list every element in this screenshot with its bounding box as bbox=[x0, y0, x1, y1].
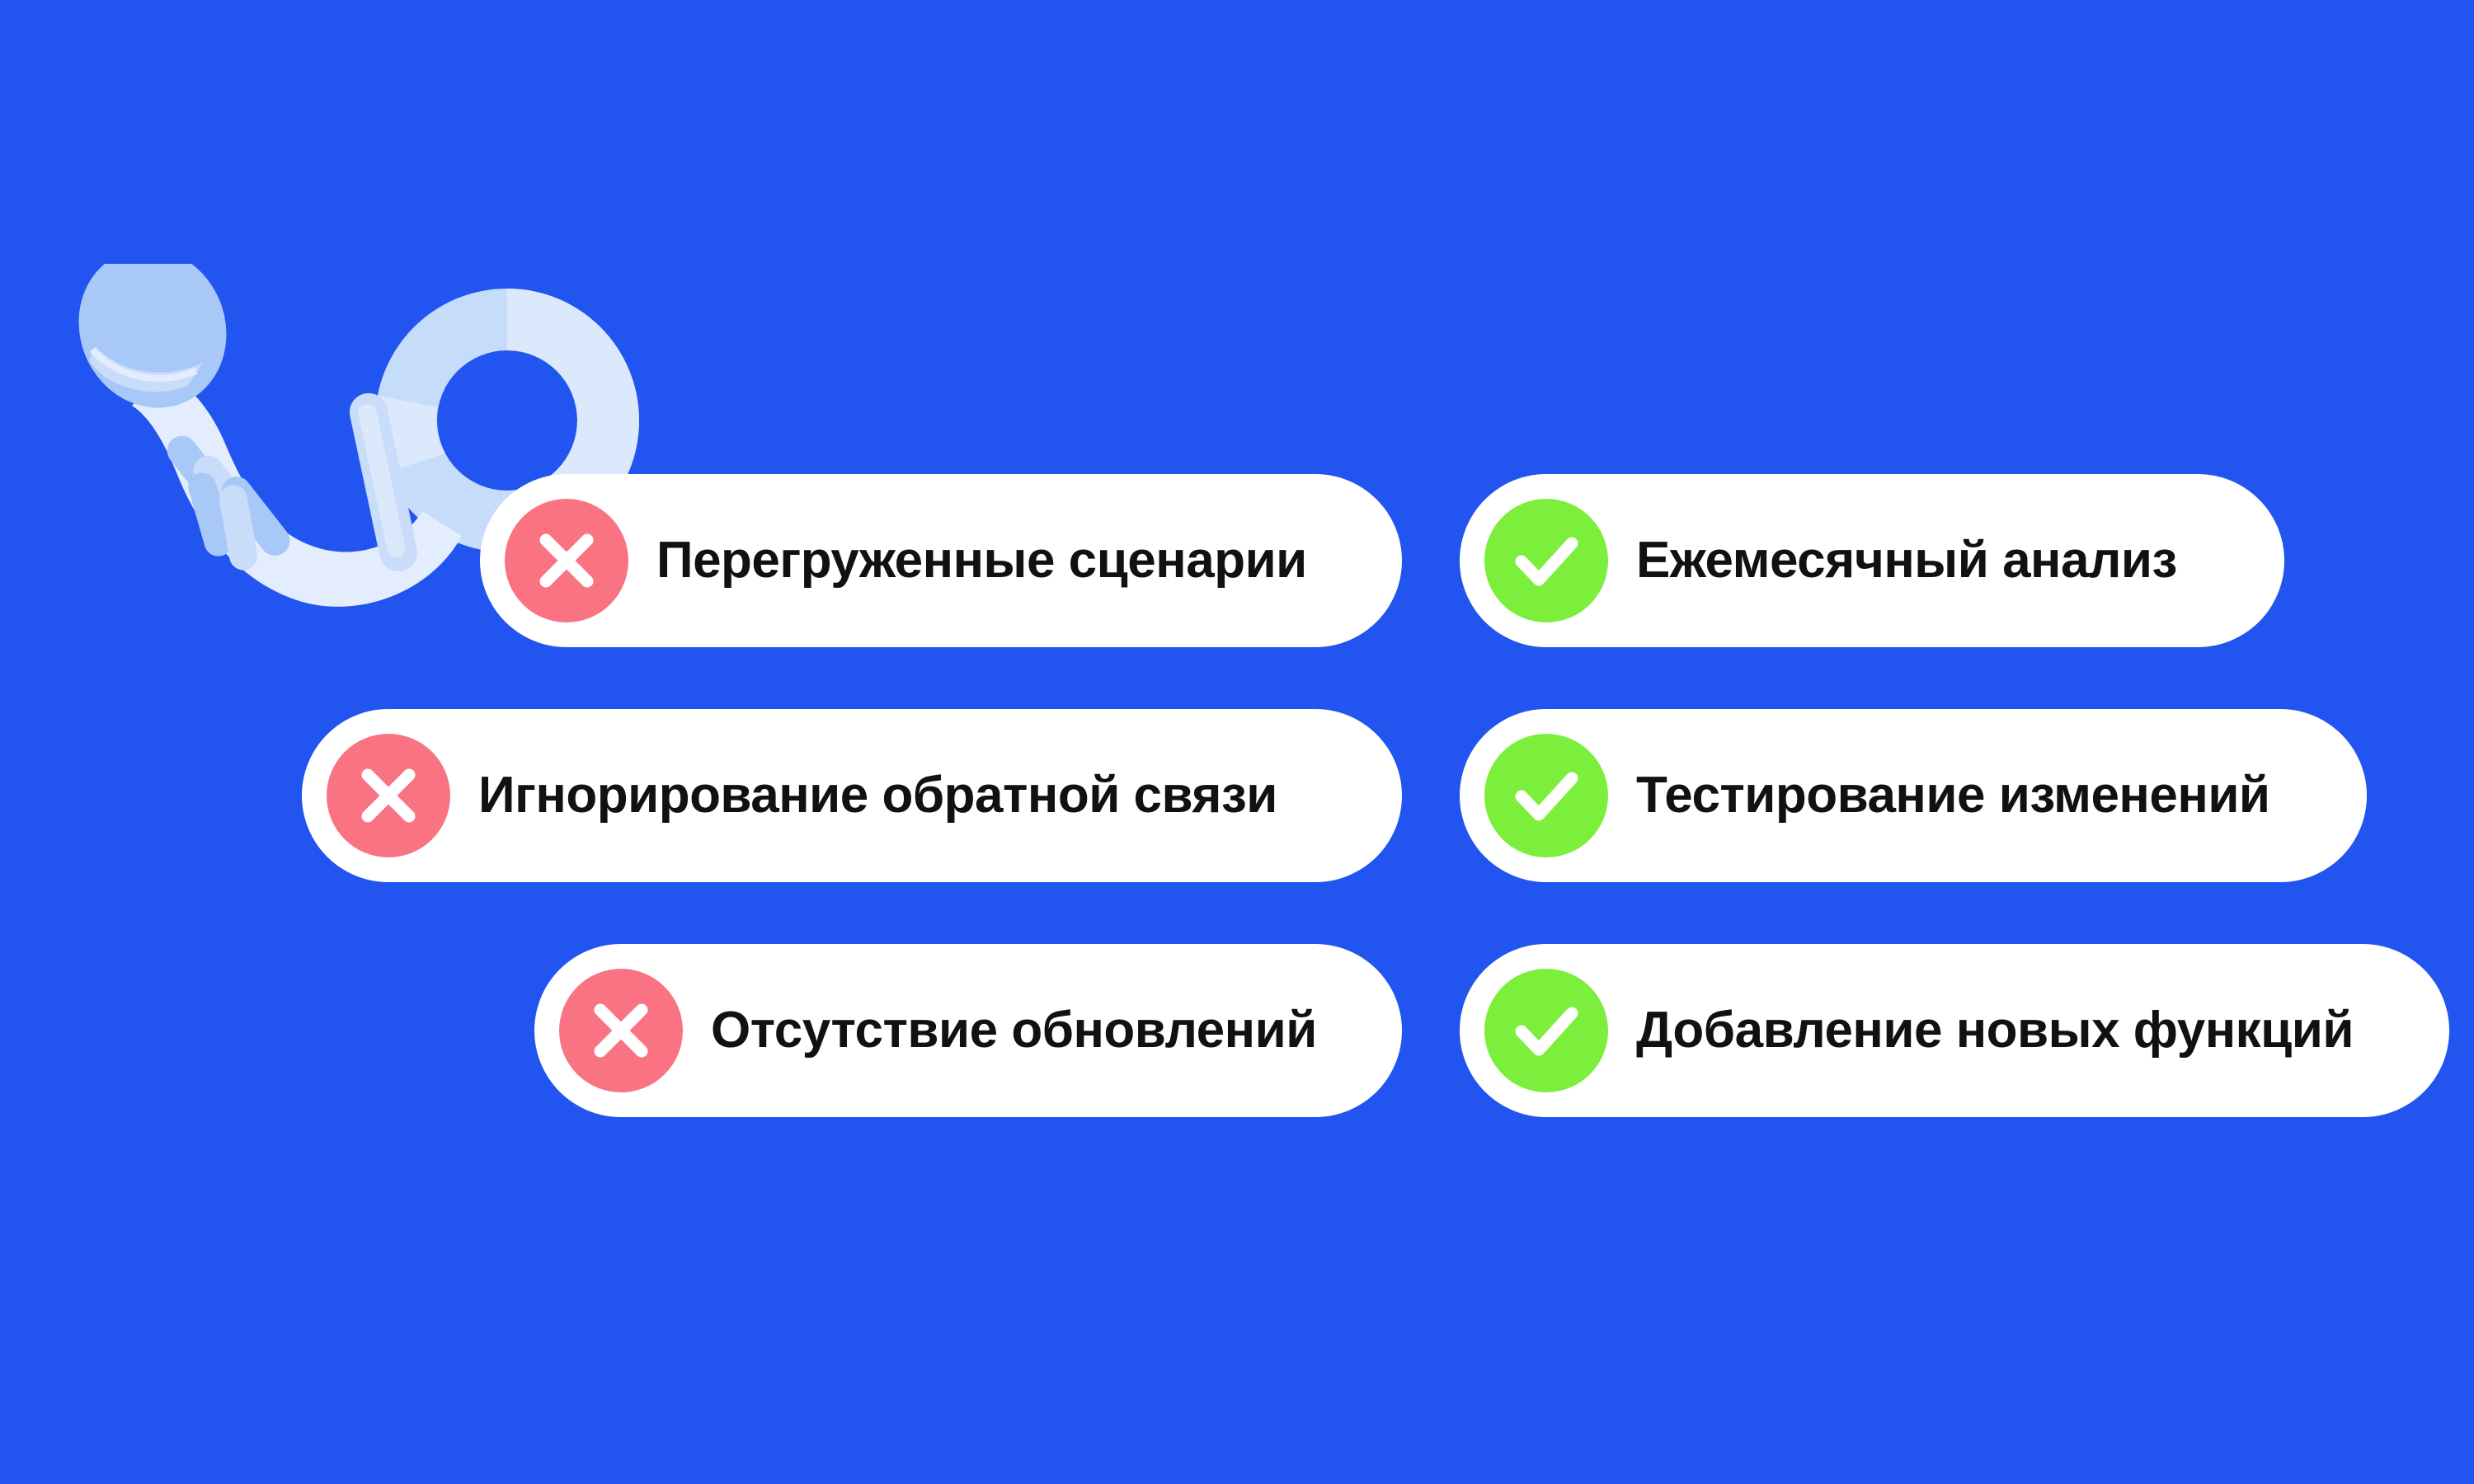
checklist-pill-label: Отсутствие обновлений bbox=[711, 1005, 1317, 1056]
check-icon bbox=[1484, 969, 1608, 1092]
checklist-row: Отсутствие обновлений Добавление новых ф… bbox=[0, 944, 2474, 1117]
cross-icon bbox=[505, 499, 628, 622]
checklist-pill-label: Игнорирование обратной связи bbox=[478, 770, 1277, 821]
checklist-pill-label: Ежемесячный анализ bbox=[1636, 535, 2177, 586]
checklist-pill-label: Тестирование изменений bbox=[1636, 770, 2270, 821]
checklist-pill-label: Перегруженные сценарии bbox=[656, 535, 1307, 586]
checklist-pill-positive[interactable]: Ежемесячный анализ bbox=[1460, 474, 2284, 647]
checklist-pill-negative[interactable]: Игнорирование обратной связи bbox=[302, 709, 1402, 882]
checklist-pill-positive[interactable]: Тестирование изменений bbox=[1460, 709, 2367, 882]
checklist-pill-negative[interactable]: Отсутствие обновлений bbox=[534, 944, 1402, 1117]
cross-icon bbox=[327, 734, 450, 857]
check-icon bbox=[1484, 734, 1608, 857]
cross-icon bbox=[559, 969, 683, 1092]
checklist-pill-positive[interactable]: Добавление новых функций bbox=[1460, 944, 2449, 1117]
check-icon bbox=[1484, 499, 1608, 622]
checklist-row: Перегруженные сценарии Ежемесячный анали… bbox=[0, 474, 2474, 647]
slide-canvas: Перегруженные сценарии Ежемесячный анали… bbox=[0, 0, 2474, 1484]
checklist-pill-negative[interactable]: Перегруженные сценарии bbox=[480, 474, 1402, 647]
checklist-rows: Перегруженные сценарии Ежемесячный анали… bbox=[0, 0, 2474, 1484]
checklist-pill-label: Добавление новых функций bbox=[1636, 1005, 2354, 1056]
checklist-row: Игнорирование обратной связи Тестировани… bbox=[0, 709, 2474, 882]
